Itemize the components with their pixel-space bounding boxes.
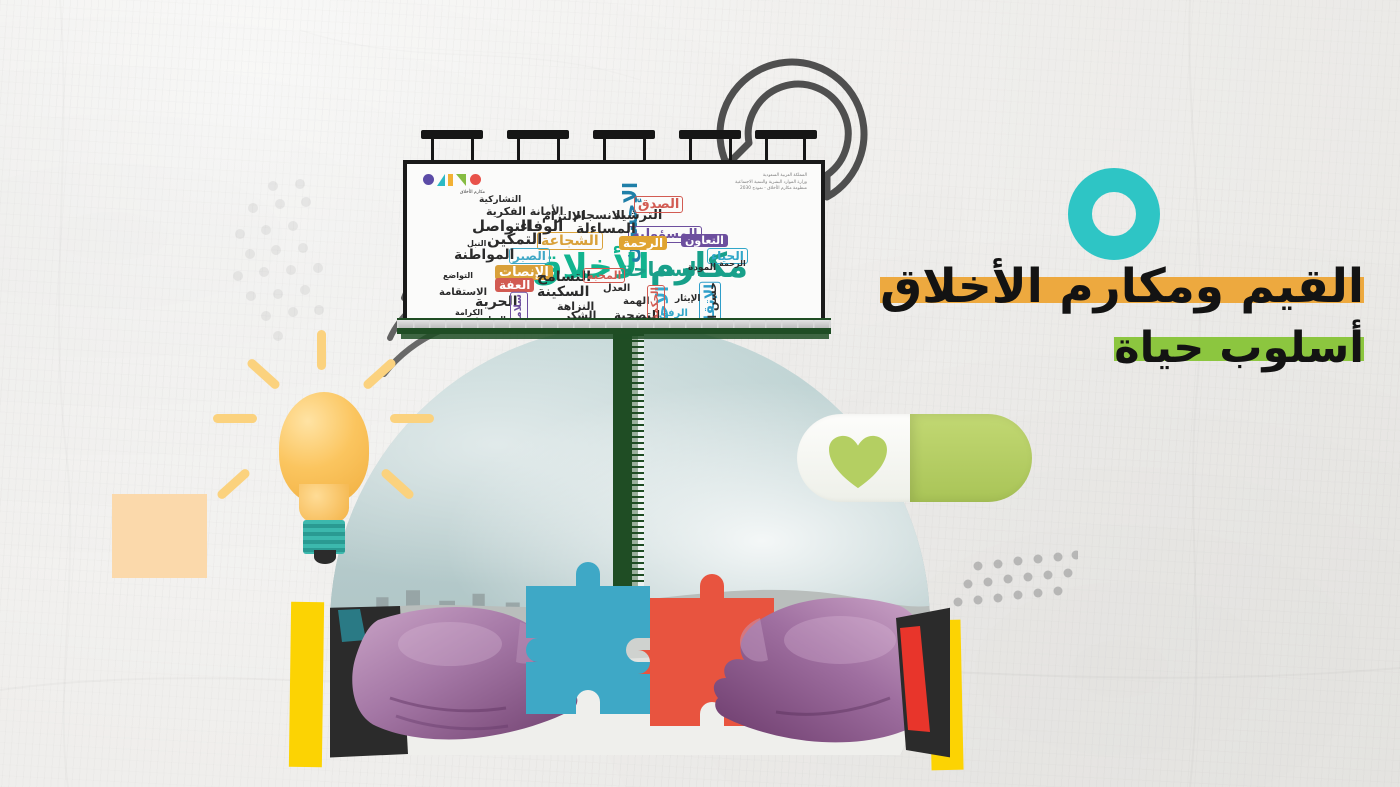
peach-square-shape [112, 494, 207, 578]
teal-ring-shape [1068, 168, 1160, 260]
word-cloud-term: الإيثار [675, 295, 700, 304]
headline-line-1-row: القيم ومكارم الأخلاق [880, 255, 1364, 319]
headline-line-1: القيم ومكارم الأخلاق [880, 259, 1364, 314]
word-cloud-term: التواضع [443, 272, 473, 280]
word-cloud-term: العدل [603, 284, 630, 294]
word-cloud-term: التشاركية [479, 196, 521, 205]
word-cloud-term: الرحمة [719, 260, 746, 268]
hands-with-puzzle [330, 548, 950, 787]
word-cloud-term: الصبر [509, 248, 550, 264]
word-cloud-term: الحكمة [647, 285, 665, 322]
word-cloud-term: السكينة [537, 285, 589, 299]
word-cloud-term: المواطنة [454, 248, 514, 262]
headline-line-2: أسلوب حياة [1114, 323, 1364, 373]
word-cloud-term: الصدق [634, 196, 683, 213]
word-cloud-term: المحبة [583, 268, 625, 283]
word-cloud-term: النبل [467, 240, 486, 248]
billboard-underside [401, 334, 829, 339]
billboard-railing [397, 318, 831, 330]
word-cloud-term: المودة [688, 264, 716, 273]
heart-icon [827, 434, 889, 490]
word-cloud-term: حسن الظن [707, 282, 718, 323]
billboard-panel: مكارم الأخلاق المملكة العربية السعودية و… [403, 160, 825, 323]
puzzle-piece-blue [526, 562, 650, 714]
word-cloud-term: الرحمة [619, 236, 667, 250]
dot-grid-right [948, 540, 1068, 620]
billboard: مكارم الأخلاق المملكة العربية السعودية و… [403, 130, 825, 330]
capsule-right-half [910, 414, 1032, 502]
word-cloud: مكارمالأخلاقالإحسانالسماحةالاحترامالتضحي… [407, 164, 821, 319]
word-cloud-term: التواصل [472, 219, 531, 234]
yellow-bar-left [289, 602, 324, 767]
right-sleeve [896, 604, 950, 762]
word-cloud-term: الهمة [623, 297, 650, 307]
poster-canvas: مكارم الأخلاق المملكة العربية السعودية و… [0, 0, 1400, 787]
capsule-pill-icon [797, 414, 1032, 502]
word-cloud-term: الأمانة الفكرية [486, 206, 563, 217]
word-cloud-term: التعاون [681, 234, 728, 247]
billboard-lamps [403, 130, 825, 162]
dot-grid-left [218, 178, 348, 353]
word-cloud-term: الاستقامة [439, 288, 487, 298]
word-cloud-term: العفة [495, 278, 534, 292]
headline-block: القيم ومكارم الأخلاق أسلوب حياة [804, 255, 1364, 377]
word-cloud-term: المساءلة [576, 222, 636, 236]
headline-line-2-row: أسلوب حياة [1114, 319, 1364, 377]
